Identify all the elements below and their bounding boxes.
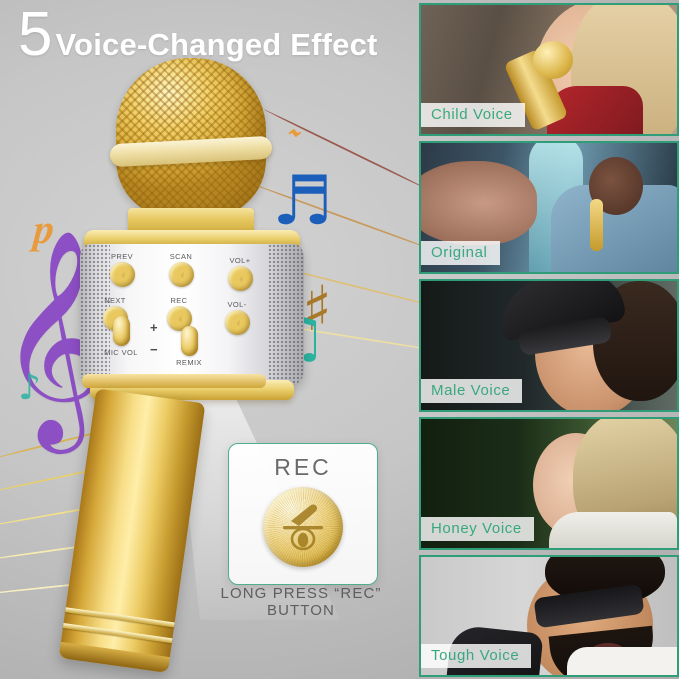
handle-ring-1 (65, 607, 175, 627)
page-title: 5 Voice-Changed Effect (18, 4, 378, 66)
photo-card-original[interactable]: Original (419, 141, 679, 274)
gramophone-icon (271, 495, 335, 559)
photo-card-male-voice[interactable]: Male Voice (419, 279, 679, 412)
volume-down-icon[interactable] (225, 310, 250, 335)
speaker-mesh-right (268, 244, 304, 384)
photo-label-tough-voice: Tough Voice (421, 644, 531, 668)
photo-label-original: Original (421, 241, 500, 265)
prev-track-icon[interactable] (110, 262, 135, 287)
minus-symbol: − (150, 342, 158, 357)
rec-callout-button[interactable] (263, 487, 343, 567)
photo-card-honey-voice[interactable]: Honey Voice (419, 417, 679, 550)
product-marketing-image: 5 Voice-Changed Effect 𝄞 𝆏 𝆝 ♬ ♪ ♯ ♫ ♪ P… (0, 0, 679, 679)
piano-dynamic-mark-icon: 𝆏 (34, 208, 55, 250)
title-number: 5 (18, 4, 51, 66)
gold-mic-head-in-photo (533, 41, 573, 79)
photo-label-male-voice: Male Voice (421, 379, 522, 403)
photo-card-tough-voice[interactable]: Tough Voice (419, 555, 679, 677)
control-volume-down-label: VOL- (214, 300, 260, 309)
rec-callout-box: REC (228, 443, 378, 585)
performer-gold-mic (590, 199, 603, 251)
control-mic-volume[interactable]: MIC VOL (98, 316, 144, 358)
handle-ring-2 (63, 623, 173, 643)
control-next-label: NEXT (92, 296, 138, 305)
control-volume-up-label: VOL+ (217, 256, 263, 265)
scan-icon[interactable] (169, 262, 194, 287)
control-volume-up[interactable]: VOL+ (217, 256, 263, 291)
eighth-note-teal-small-icon: ♪ (18, 370, 41, 406)
reaching-hand (419, 161, 537, 245)
control-scan-label: SCAN (158, 252, 204, 261)
rec-callout-caption: LONG PRESS “REC” BUTTON (186, 585, 416, 619)
honey-shoulder (549, 512, 677, 550)
remix-slider-icon[interactable] (181, 326, 198, 356)
volume-up-icon[interactable] (228, 266, 253, 291)
title-text: Voice-Changed Effect (55, 29, 377, 60)
photo-label-child-voice: Child Voice (421, 103, 525, 127)
control-rec-label: REC (156, 296, 202, 305)
handle-end-cap (59, 642, 170, 673)
control-remix[interactable]: REMIX (166, 326, 212, 368)
plus-symbol: + (150, 320, 158, 335)
rec-callout-title: REC (229, 454, 377, 481)
photo-card-child-voice[interactable]: Child Voice (419, 3, 679, 136)
control-prev-label: PREV (99, 252, 145, 261)
microphone-base-trim (82, 374, 266, 388)
control-prev[interactable]: PREV (99, 252, 145, 287)
microphone-handle (59, 388, 206, 673)
control-scan[interactable]: SCAN (158, 252, 204, 287)
control-mic-volume-label: MIC VOL (98, 348, 144, 357)
mic-volume-slider-icon[interactable] (113, 316, 130, 346)
voice-effect-photo-list: Child Voice Original Male Voice (419, 0, 679, 679)
photo-label-honey-voice: Honey Voice (421, 517, 534, 541)
control-remix-label: REMIX (166, 358, 212, 367)
control-volume-down[interactable]: VOL- (214, 300, 260, 335)
tough-shirt (567, 647, 679, 677)
